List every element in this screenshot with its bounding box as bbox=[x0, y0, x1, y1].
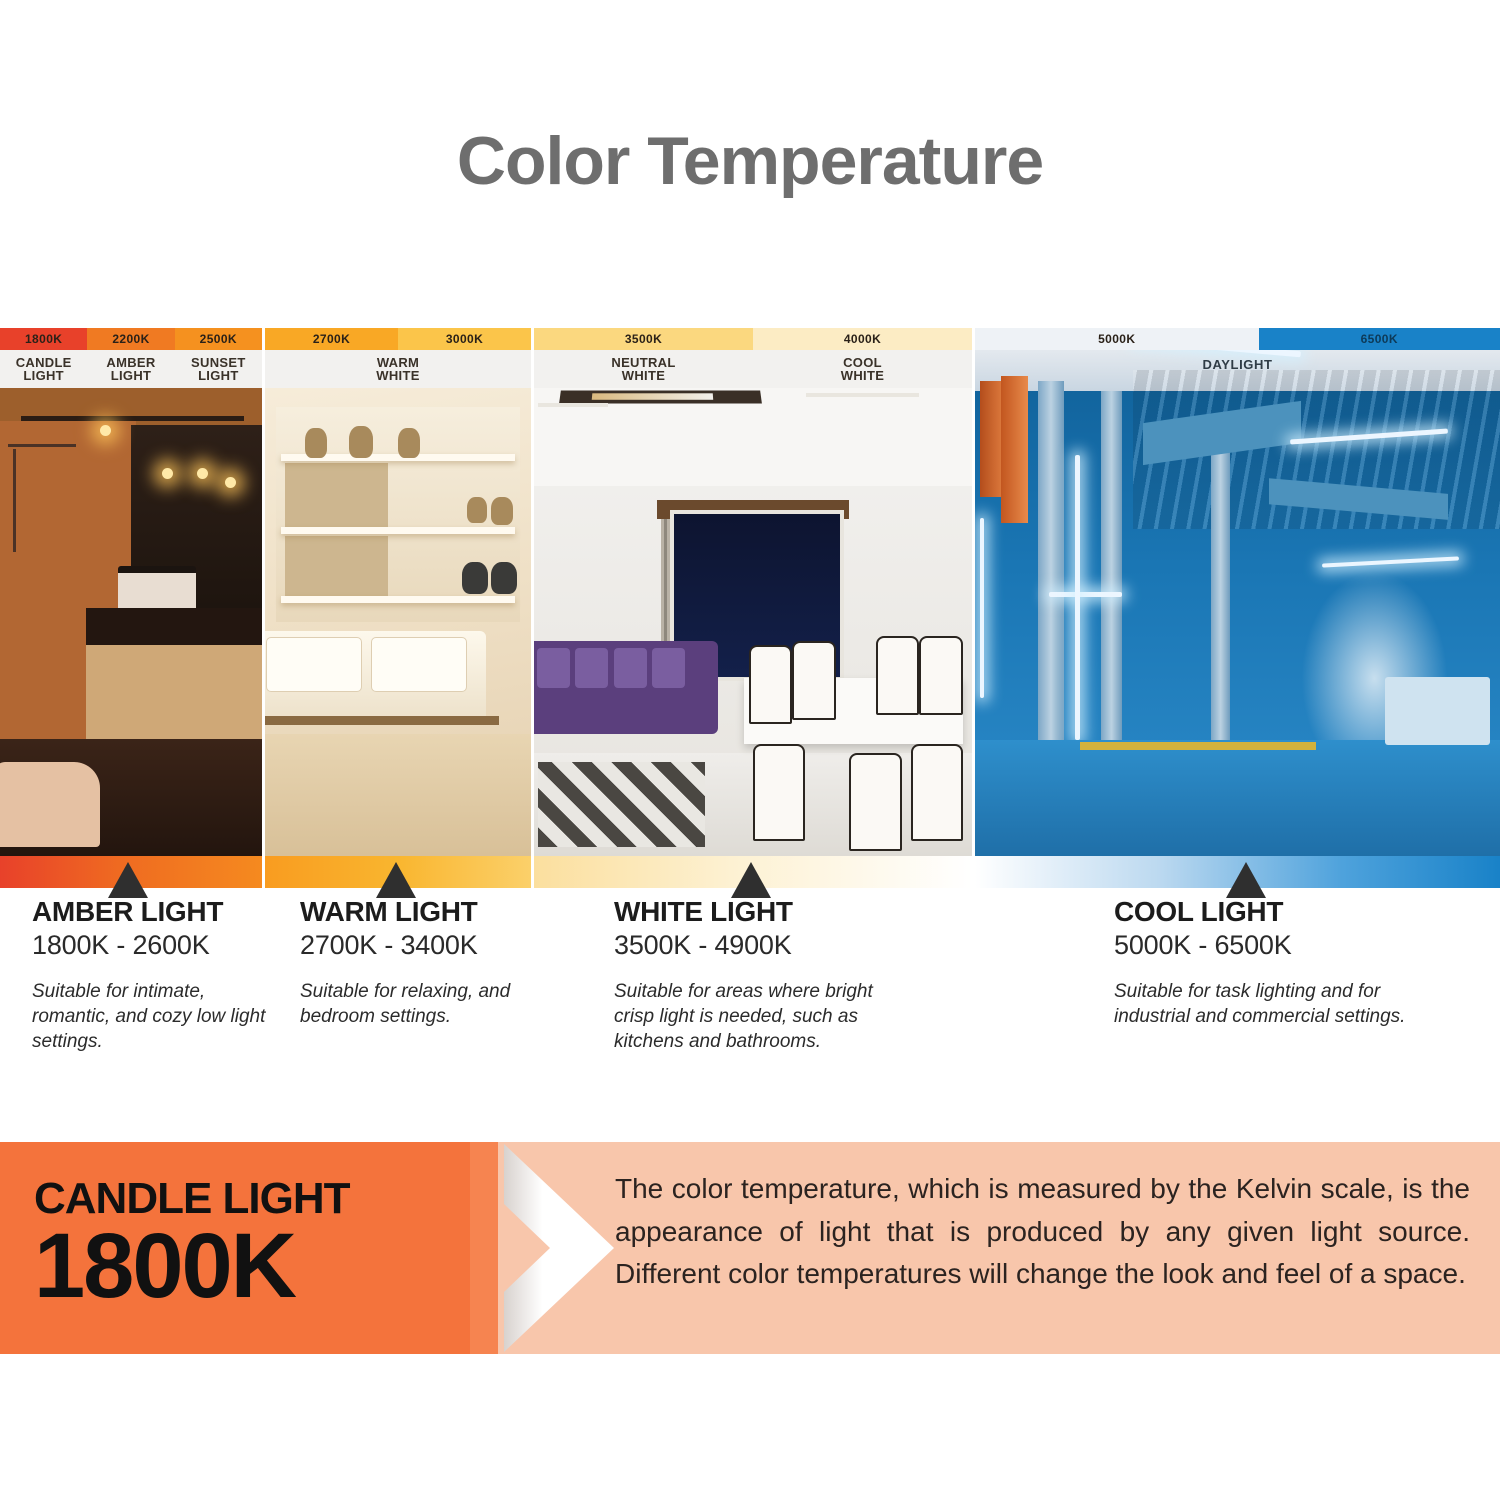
category-descriptions: AMBER LIGHT 1800K - 2600K Suitable for i… bbox=[0, 896, 1500, 1076]
decor-vase bbox=[305, 428, 327, 458]
orange-column bbox=[980, 381, 1001, 497]
warehouse-floor bbox=[975, 740, 1500, 856]
dining-chair bbox=[876, 636, 919, 715]
shelf-board bbox=[281, 596, 516, 603]
support-column bbox=[1038, 381, 1064, 793]
kelvin-header-row-daylight: 5000K 6500K bbox=[975, 328, 1500, 350]
name-sunset-light: SUNSET LIGHT bbox=[175, 350, 262, 388]
banner-accent-panel: CANDLE LIGHT 1800K bbox=[0, 1142, 470, 1354]
category-description: Suitable for task lighting and for indus… bbox=[1114, 979, 1414, 1029]
area-rug bbox=[265, 734, 531, 856]
sofa-pillow bbox=[537, 648, 570, 687]
category-range: 1800K - 2600K bbox=[32, 930, 282, 961]
shelving-unit bbox=[276, 407, 521, 622]
shelf-board bbox=[281, 527, 516, 534]
dining-chair bbox=[792, 641, 835, 720]
edison-bulb bbox=[100, 425, 111, 436]
kelvin-cell-4000k: 4000K bbox=[753, 328, 972, 350]
shelf-niche bbox=[285, 463, 388, 528]
kelvin-header-row-neutral: 3500K 4000K bbox=[534, 328, 972, 350]
category-amber-light: AMBER LIGHT 1800K - 2600K Suitable for i… bbox=[32, 896, 282, 1054]
banner-paragraph: The color temperature, which is measured… bbox=[615, 1168, 1470, 1296]
name-amber-light: AMBER LIGHT bbox=[87, 350, 174, 388]
name-daylight: DAYLIGHT bbox=[975, 350, 1500, 378]
name-candle-light: CANDLE LIGHT bbox=[0, 350, 87, 388]
photo-warehouse-daylight: 5000K 6500K DAYLIGHT bbox=[975, 328, 1500, 856]
area-rug bbox=[538, 762, 704, 846]
category-range: 5000K - 6500K bbox=[1114, 930, 1414, 961]
panel-daylight: 5000K 6500K DAYLIGHT bbox=[975, 328, 1500, 856]
name-line-1: CANDLE bbox=[16, 356, 72, 369]
bottom-banner: CANDLE LIGHT 1800K The color temperature… bbox=[0, 1142, 1500, 1354]
ceiling-fan bbox=[806, 393, 920, 397]
name-warm-white: WARM WHITE bbox=[265, 350, 531, 388]
dining-chair bbox=[749, 645, 792, 724]
category-cool-light: COOL LIGHT 5000K - 6500K Suitable for ta… bbox=[1114, 896, 1414, 1029]
purple-sofa bbox=[534, 641, 718, 735]
kelvin-name-row-neutral: NEUTRAL WHITE COOL WHITE bbox=[534, 350, 972, 388]
panel-neutral-cool-white: 3500K 4000K NEUTRAL WHITE COOL WHITE bbox=[534, 328, 972, 856]
ceiling bbox=[534, 388, 972, 486]
kelvin-header-row-warm: 2700K 3000K bbox=[265, 328, 531, 350]
temperature-scale-strip: 1800K 2200K 2500K CANDLE LIGHT AMBER LIG… bbox=[0, 328, 1500, 856]
kelvin-cell-2700k: 2700K bbox=[265, 328, 398, 350]
fluorescent-tube bbox=[1049, 592, 1123, 597]
name-line-2: LIGHT bbox=[111, 369, 152, 382]
decor-vase bbox=[462, 562, 488, 594]
wood-counter-front bbox=[86, 645, 262, 739]
kelvin-cell-2200k: 2200K bbox=[87, 328, 174, 350]
name-line-1: SUNSET bbox=[191, 356, 246, 369]
name-line-1: COOL bbox=[843, 356, 882, 369]
decor-vase bbox=[398, 428, 420, 458]
decor-vase bbox=[467, 497, 487, 523]
dining-chair bbox=[911, 744, 963, 842]
category-title: COOL LIGHT bbox=[1114, 896, 1414, 928]
kelvin-cell-2500k: 2500K bbox=[175, 328, 262, 350]
photo-living-room-warm-white bbox=[265, 388, 531, 856]
kelvin-cell-3500k: 3500K bbox=[534, 328, 753, 350]
category-description: Suitable for areas where bright crisp li… bbox=[614, 979, 914, 1054]
kelvin-cell-1800k: 1800K bbox=[0, 328, 87, 350]
sofa-pillow bbox=[652, 648, 685, 687]
pointer-triangle-amber bbox=[108, 862, 148, 898]
name-line-1: AMBER bbox=[106, 356, 155, 369]
page-title: Color Temperature bbox=[0, 122, 1500, 200]
support-column bbox=[1211, 423, 1229, 750]
name-cool-white: COOL WHITE bbox=[753, 350, 972, 388]
kelvin-name-row-amber: CANDLE LIGHT AMBER LIGHT SUNSET LIGHT bbox=[0, 350, 262, 388]
category-range: 3500K - 4900K bbox=[614, 930, 914, 961]
banner-accent-edge bbox=[470, 1142, 498, 1354]
name-line-2: LIGHT bbox=[198, 369, 239, 382]
name-line-2: WHITE bbox=[376, 369, 419, 382]
name-line-1: NEUTRAL bbox=[611, 356, 675, 369]
ceiling-fan bbox=[538, 403, 608, 407]
pointer-triangle-warm bbox=[376, 862, 416, 898]
edison-bulb bbox=[162, 468, 173, 479]
sofa-cushion bbox=[371, 637, 467, 691]
category-title: WARM LIGHT bbox=[300, 896, 550, 928]
pointer-triangle-cool bbox=[1226, 862, 1266, 898]
sofa bbox=[265, 631, 486, 725]
panel-amber: 1800K 2200K 2500K CANDLE LIGHT AMBER LIG… bbox=[0, 328, 262, 856]
edison-bulb bbox=[197, 468, 208, 479]
decor-vase bbox=[491, 497, 513, 525]
banner-kelvin-value: 1800K bbox=[34, 1220, 295, 1312]
photo-brick-cafe-amber bbox=[0, 388, 262, 856]
dining-chair bbox=[849, 753, 901, 851]
ceiling-panel-inlay bbox=[592, 393, 713, 400]
category-title: WHITE LIGHT bbox=[614, 896, 914, 928]
orange-column bbox=[1001, 376, 1027, 524]
ceiling-panel bbox=[559, 391, 762, 404]
name-line-2: WHITE bbox=[622, 369, 665, 382]
delivery-truck bbox=[1385, 677, 1490, 746]
name-neutral-white: NEUTRAL WHITE bbox=[534, 350, 753, 388]
dining-chair bbox=[753, 744, 805, 842]
category-description: Suitable for intimate, romantic, and coz… bbox=[32, 979, 282, 1054]
category-range: 2700K - 3400K bbox=[300, 930, 550, 961]
color-gradient-bar bbox=[0, 856, 1500, 888]
fluorescent-tube bbox=[1321, 557, 1458, 568]
name-line-1: WARM bbox=[377, 356, 419, 369]
kelvin-cell-6500k: 6500K bbox=[1259, 328, 1500, 350]
decor-vase bbox=[491, 562, 517, 594]
name-line-2: WHITE bbox=[841, 369, 884, 382]
photo-dining-room-neutral-white bbox=[534, 388, 972, 856]
panel-warm-white: 2700K 3000K WARM WHITE bbox=[265, 328, 531, 856]
sofa-pillow bbox=[614, 648, 647, 687]
category-title: AMBER LIGHT bbox=[32, 896, 282, 928]
fluorescent-tube bbox=[1075, 455, 1080, 740]
wall-pipe bbox=[8, 444, 76, 447]
support-column bbox=[1101, 391, 1122, 771]
shelf-niche bbox=[285, 536, 388, 596]
category-description: Suitable for relaxing, and bedroom setti… bbox=[300, 979, 550, 1029]
bench-frame bbox=[265, 716, 499, 725]
kelvin-cell-5000k: 5000K bbox=[975, 328, 1259, 350]
dining-chair bbox=[919, 636, 962, 715]
category-warm-light: WARM LIGHT 2700K - 3400K Suitable for re… bbox=[300, 896, 550, 1029]
ceiling-track bbox=[21, 416, 244, 421]
kelvin-cell-3000k: 3000K bbox=[398, 328, 531, 350]
fluorescent-tube bbox=[980, 518, 984, 698]
sofa-pillow bbox=[575, 648, 608, 687]
name-line-2: LIGHT bbox=[23, 369, 64, 382]
sofa-cushion bbox=[266, 637, 362, 691]
couch bbox=[0, 762, 100, 846]
decor-vase bbox=[349, 426, 373, 458]
wall-pipe-vertical bbox=[13, 449, 16, 552]
safety-rail bbox=[1080, 742, 1316, 750]
pointer-triangle-white bbox=[731, 862, 771, 898]
category-white-light: WHITE LIGHT 3500K - 4900K Suitable for a… bbox=[614, 896, 914, 1054]
kelvin-header-row-amber: 1800K 2200K 2500K bbox=[0, 328, 262, 350]
kelvin-name-row-warm: WARM WHITE bbox=[265, 350, 531, 388]
